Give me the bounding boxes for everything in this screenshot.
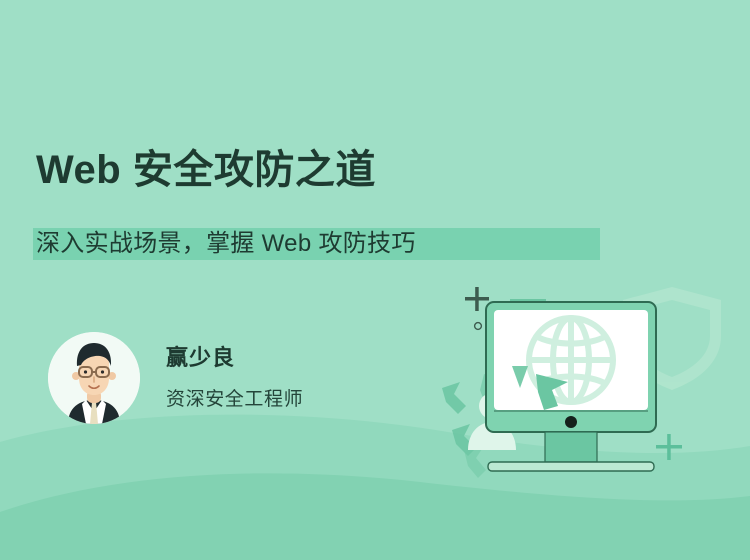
- plus-icon: [656, 434, 682, 460]
- author-block: 赢少良 资深安全工程师: [48, 332, 303, 424]
- security-illustration: [440, 270, 750, 500]
- avatar: [48, 332, 140, 424]
- author-name: 赢少良: [166, 343, 303, 373]
- author-text: 赢少良 资深安全工程师: [166, 343, 303, 413]
- subtitle-highlight: 深入实战场景，掌握 Web 攻防技巧: [33, 228, 600, 260]
- author-role: 资深安全工程师: [166, 387, 303, 413]
- small-circle-icon: [475, 323, 482, 330]
- page-subtitle: 深入实战场景，掌握 Web 攻防技巧: [36, 228, 416, 260]
- page-title: Web 安全攻防之道: [36, 143, 376, 197]
- course-banner: Web 安全攻防之道 深入实战场景，掌握 Web 攻防技巧: [0, 0, 750, 560]
- avatar-illustration: [48, 332, 140, 424]
